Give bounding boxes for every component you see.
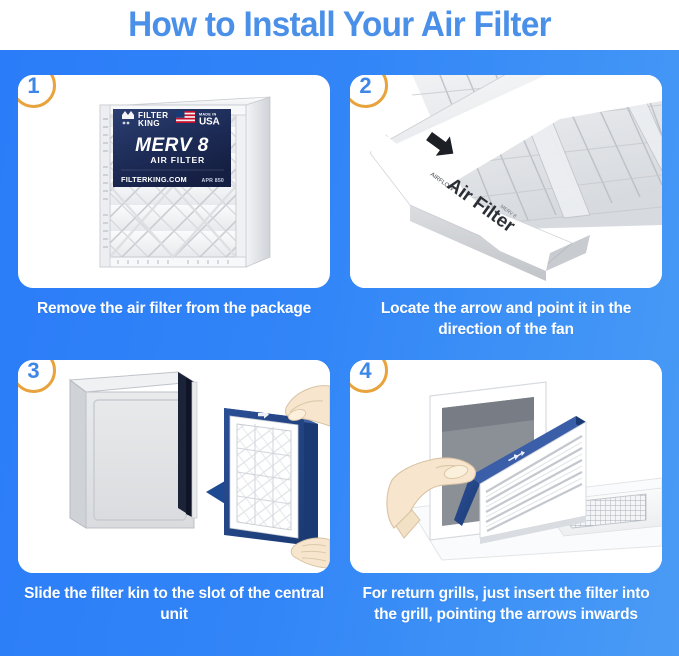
step-1-caption: Remove the air filter from the package <box>18 298 330 319</box>
steps-grid: 1 <box>0 50 679 656</box>
page-title: How to Install Your Air Filter <box>128 5 551 45</box>
svg-text:AIR FILTER: AIR FILTER <box>150 155 205 165</box>
step-2-card: 2 <box>350 75 662 288</box>
step-1: 1 <box>18 75 330 319</box>
step-2-illustration-filter-edge-arrow: AIRFLOW Air Filter MERV 8 <box>350 75 662 288</box>
step-1-card: 1 <box>18 75 330 288</box>
step-4-card: 4 <box>350 360 662 573</box>
step-2: 2 <box>350 75 662 340</box>
svg-text:KING: KING <box>138 119 160 128</box>
svg-text:FILTERKING.COM: FILTERKING.COM <box>121 175 187 184</box>
step-3-caption: Slide the filter kin to the slot of the … <box>18 583 330 625</box>
step-4: 4 <box>350 360 662 625</box>
step-1-illustration-air-filter-product: FILTER KING <box>18 75 330 288</box>
svg-text:USA: USA <box>199 117 220 128</box>
step-4-illustration-insert-into-return-grill <box>350 360 662 573</box>
step-3-card: 3 <box>18 360 330 573</box>
step-4-caption: For return grills, just insert the filte… <box>350 583 662 625</box>
svg-text:MERV 8: MERV 8 <box>135 135 209 156</box>
step-3: 3 <box>18 360 330 625</box>
step-2-caption: Locate the arrow and point it in the dir… <box>350 298 662 340</box>
header-band: How to Install Your Air Filter <box>0 0 679 50</box>
svg-text:APR 850: APR 850 <box>202 178 224 184</box>
step-3-illustration-slide-filter-into-unit <box>18 360 330 573</box>
infographic-root: How to Install Your Air Filter 1 <box>0 0 679 656</box>
